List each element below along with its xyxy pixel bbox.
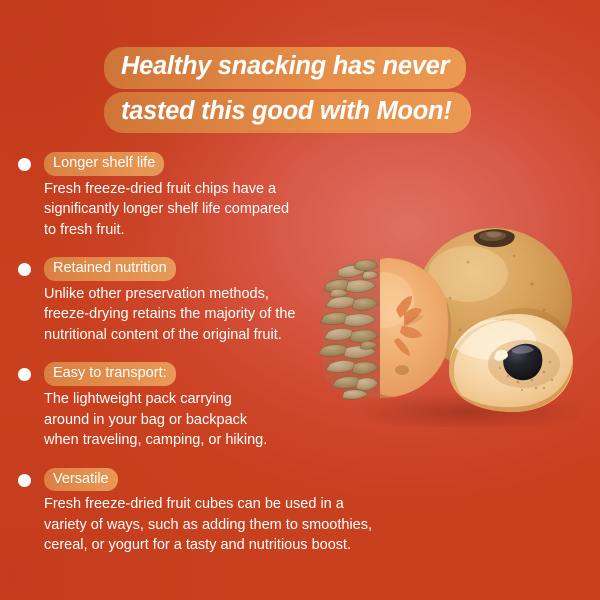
headline-line-2: tasted this good with Moon! xyxy=(104,92,471,134)
promo-poster: Healthy snacking has never tasted this g… xyxy=(0,0,600,600)
feature-title: Versatile xyxy=(44,468,118,492)
feature-item-easy-to-transport: Easy to transport: The lightweight pack … xyxy=(0,362,420,450)
feature-title: Easy to transport: xyxy=(44,362,176,386)
feature-body: The lightweight pack carrying around in … xyxy=(44,389,420,451)
feature-item-longer-shelf-life: Longer shelf life Fresh freeze-dried fru… xyxy=(0,152,420,240)
feature-body-line: Fresh freeze-dried fruit cubes can be us… xyxy=(44,494,420,515)
feature-body-line: Unlike other preservation methods, xyxy=(44,284,420,305)
feature-body-line: The lightweight pack carrying xyxy=(44,389,420,410)
feature-body: Fresh freeze-dried fruit cubes can be us… xyxy=(44,494,420,556)
headline-line-1: Healthy snacking has never xyxy=(104,47,466,89)
feature-body-line: when traveling, camping, or hiking. xyxy=(44,430,420,451)
feature-body-line: variety of ways, such as adding them to … xyxy=(44,515,420,536)
feature-title: Retained nutrition xyxy=(44,257,176,281)
feature-item-versatile: Versatile Fresh freeze-dried fruit cubes… xyxy=(0,468,420,556)
feature-title: Longer shelf life xyxy=(44,152,164,176)
feature-body-line: freeze-drying retains the majority of th… xyxy=(44,304,420,325)
feature-body-line: to fresh fruit. xyxy=(44,220,420,241)
bullet-dot-icon xyxy=(18,263,31,276)
bullet-dot-icon xyxy=(18,474,31,487)
feature-body-line: Fresh freeze-dried fruit chips have a xyxy=(44,179,420,200)
feature-body-line: around in your bag or backpack xyxy=(44,410,420,431)
bullet-dot-icon xyxy=(18,368,31,381)
headline-block: Healthy snacking has never tasted this g… xyxy=(104,47,510,133)
feature-list: Longer shelf life Fresh freeze-dried fru… xyxy=(0,152,420,556)
bullet-dot-icon xyxy=(18,158,31,171)
feature-body-line: cereal, or yogurt for a tasty and nutrit… xyxy=(44,535,420,556)
feature-body: Unlike other preservation methods, freez… xyxy=(44,284,420,346)
feature-body-line: nutritional content of the original frui… xyxy=(44,325,420,346)
feature-item-retained-nutrition: Retained nutrition Unlike other preserva… xyxy=(0,257,420,345)
feature-body-line: significantly longer shelf life compared xyxy=(44,199,420,220)
feature-body: Fresh freeze-dried fruit chips have a si… xyxy=(44,179,420,241)
